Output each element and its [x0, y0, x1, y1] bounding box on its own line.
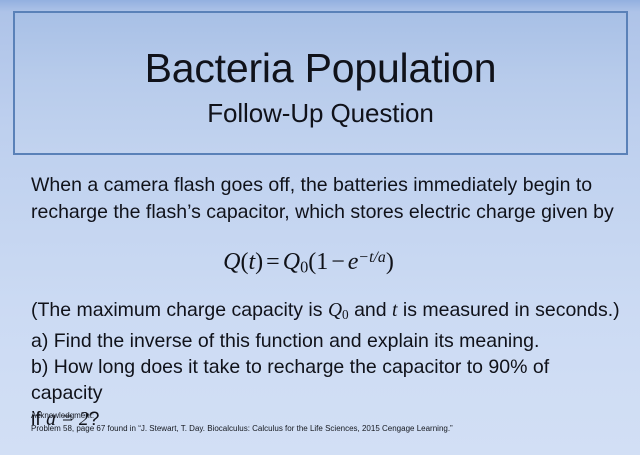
capacity-note-symbol-q-subscript: 0 — [342, 307, 349, 322]
formula-exponent: −t/a — [358, 249, 385, 266]
formula-rhs-subscript: 0 — [300, 258, 308, 277]
formula-lhs-close-paren: ) — [255, 249, 263, 275]
capacity-note: (The maximum charge capacity is Q0 and t… — [31, 297, 621, 328]
formula-rhs-q: Q — [283, 249, 300, 275]
question-b-line-1: b) How long does it take to recharge the… — [31, 356, 549, 404]
formula-lhs-function: Q — [223, 249, 240, 275]
capacity-note-symbol-q: Q — [328, 300, 342, 321]
problem-intro-line-2: recharge the flash’s capacitor, which st… — [31, 201, 614, 223]
formula-exponent-a: a — [378, 249, 386, 266]
formula-exponent-minus: − — [358, 249, 369, 266]
formula-lhs-open-paren: ( — [241, 249, 249, 275]
page-subtitle: Follow-Up Question — [15, 98, 626, 128]
formula-rhs-close-paren: ) — [386, 249, 394, 275]
formula-rhs-minus: − — [328, 249, 348, 275]
page-title: Bacteria Population — [15, 45, 626, 91]
capacity-note-middle: and — [349, 299, 392, 321]
formula-rhs-e: e — [348, 249, 359, 275]
problem-intro: When a camera flash goes off, the batter… — [31, 172, 621, 226]
title-box: Bacteria Population Follow-Up Question — [13, 11, 628, 155]
problem-intro-line-1: When a camera flash goes off, the batter… — [31, 174, 592, 196]
acknowledgment-heading: Acknowledgment: — [31, 409, 611, 422]
question-a: a) Find the inverse of this function and… — [31, 328, 621, 354]
formula-rhs-one: 1 — [316, 249, 328, 275]
capacity-note-prefix: (The maximum charge capacity is — [31, 299, 328, 321]
charge-formula: Q(t)=Q0(1−e−t/a) — [31, 243, 621, 283]
acknowledgment-citation: Problem 58, page 67 found in “J. Stewart… — [31, 422, 611, 435]
formula-equals-sign: = — [263, 249, 283, 275]
acknowledgment: Acknowledgment: Problem 58, page 67 foun… — [31, 409, 611, 435]
presentation-slide: Bacteria Population Follow-Up Question W… — [0, 0, 640, 455]
capacity-note-suffix: is measured in seconds.) — [397, 299, 619, 321]
slide-body: When a camera flash goes off, the batter… — [31, 172, 621, 433]
